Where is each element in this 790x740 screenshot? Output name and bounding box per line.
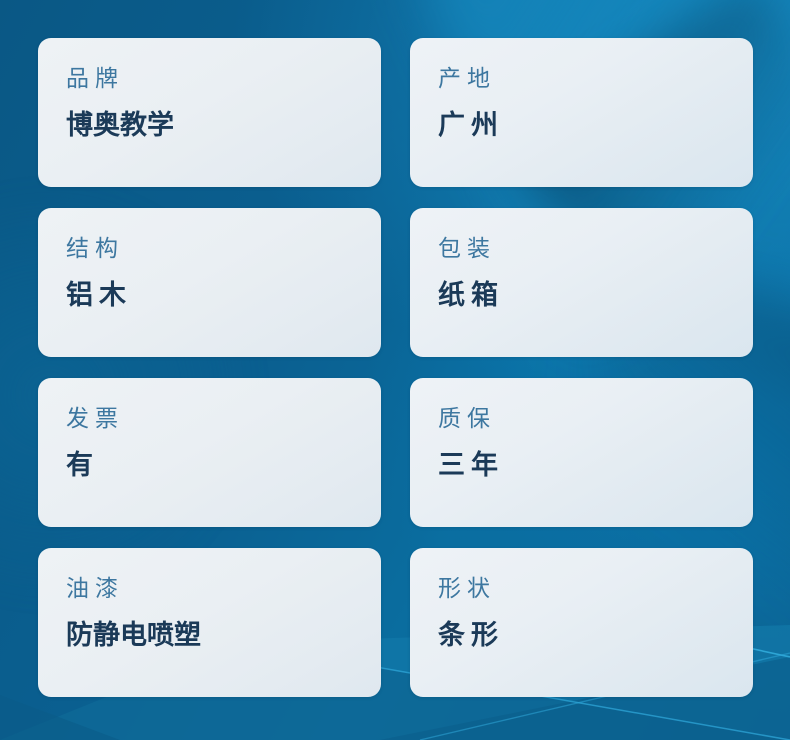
spec-value: 铝木 bbox=[66, 282, 381, 309]
spec-label: 油漆 bbox=[66, 578, 381, 601]
spec-value: 纸箱 bbox=[438, 282, 753, 309]
spec-value: 防静电喷塑 bbox=[66, 622, 381, 649]
spec-value: 条形 bbox=[438, 622, 753, 649]
spec-panel: 品牌 博奥教学 产地 广州 结构 铝木 包装 纸箱 发票 有 质保 三年 油漆 … bbox=[0, 0, 790, 740]
spec-label: 结构 bbox=[66, 238, 381, 261]
spec-value: 三年 bbox=[438, 452, 753, 479]
spec-card-structure[interactable]: 结构 铝木 bbox=[38, 208, 381, 357]
spec-value: 有 bbox=[66, 452, 381, 479]
spec-card-shape[interactable]: 形状 条形 bbox=[410, 548, 753, 697]
spec-card-packaging[interactable]: 包装 纸箱 bbox=[410, 208, 753, 357]
spec-label: 质保 bbox=[438, 408, 753, 431]
spec-card-warranty[interactable]: 质保 三年 bbox=[410, 378, 753, 527]
spec-card-paint[interactable]: 油漆 防静电喷塑 bbox=[38, 548, 381, 697]
spec-card-origin[interactable]: 产地 广州 bbox=[410, 38, 753, 187]
spec-value: 博奥教学 bbox=[66, 112, 381, 139]
spec-label: 包装 bbox=[438, 238, 753, 261]
spec-label: 发票 bbox=[66, 408, 381, 431]
spec-card-brand[interactable]: 品牌 博奥教学 bbox=[38, 38, 381, 187]
spec-label: 品牌 bbox=[66, 68, 381, 91]
spec-card-invoice[interactable]: 发票 有 bbox=[38, 378, 381, 527]
spec-value: 广州 bbox=[438, 112, 753, 139]
spec-card-grid: 品牌 博奥教学 产地 广州 结构 铝木 包装 纸箱 发票 有 质保 三年 油漆 … bbox=[38, 38, 753, 697]
spec-label: 形状 bbox=[438, 578, 753, 601]
spec-label: 产地 bbox=[438, 68, 753, 91]
